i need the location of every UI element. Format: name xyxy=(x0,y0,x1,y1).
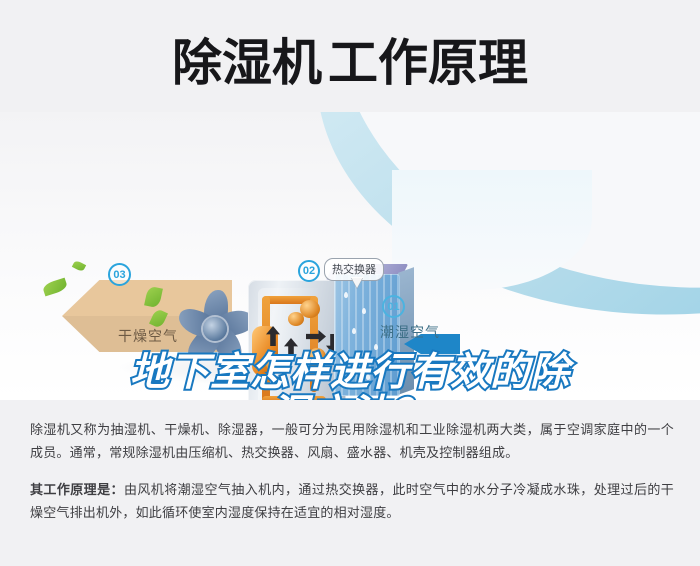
article-body: 除湿机又称为抽湿机、干燥机、除湿器，一般可分为民用除湿机和工业除湿机两大类，属于… xyxy=(0,400,700,566)
moist-air-step-badge: 01 xyxy=(382,295,405,318)
condensation-droplet-icon xyxy=(366,374,370,380)
moist-air-label: 潮湿空气 xyxy=(380,322,440,342)
paragraph-2-rest: 由风机将潮湿空气抽入机内，通过热交换器，此时空气中的水分子冷凝成水珠，处理过后的… xyxy=(30,482,674,520)
leaf-icon xyxy=(42,278,69,297)
page-title-part1: 除湿机 xyxy=(172,35,322,91)
dry-air-label: 干燥空气 xyxy=(118,326,178,346)
refrigerant-joint xyxy=(288,312,304,326)
page-title-part2: 工作原理 xyxy=(328,35,528,91)
fan-hub xyxy=(203,317,227,341)
refrigerant-joint xyxy=(308,348,326,366)
dehumidifier-diagram: 干燥空气 03 xyxy=(0,112,700,400)
condensation-droplet-icon xyxy=(374,344,378,350)
fan-icon xyxy=(172,286,258,372)
title-band: 除湿机工作原理 xyxy=(0,0,700,118)
condensation-droplet-icon xyxy=(352,328,356,334)
heat-exchanger-step-badge: 02 xyxy=(298,260,320,282)
leaf-icon xyxy=(72,260,86,273)
dry-air-step-badge: 03 xyxy=(108,263,131,286)
condensation-droplet-icon xyxy=(362,308,366,314)
refrigerant-joint xyxy=(266,356,282,372)
infographic-page: 除湿机工作原理 干燥空气 03 xyxy=(0,0,700,566)
paragraph-1: 除湿机又称为抽湿机、干燥机、除湿器，一般可分为民用除湿机和工业除湿机两大类，属于… xyxy=(30,418,674,464)
paragraph-2-lead: 其工作原理是： xyxy=(30,482,124,497)
callout-pointer-icon xyxy=(351,277,363,288)
page-title: 除湿机工作原理 xyxy=(0,34,700,92)
condensation-droplet-icon xyxy=(340,358,344,364)
condensation-droplet-icon xyxy=(344,292,348,298)
paragraph-2: 其工作原理是：由风机将潮湿空气抽入机内，通过热交换器，此时空气中的水分子冷凝成水… xyxy=(30,478,674,524)
